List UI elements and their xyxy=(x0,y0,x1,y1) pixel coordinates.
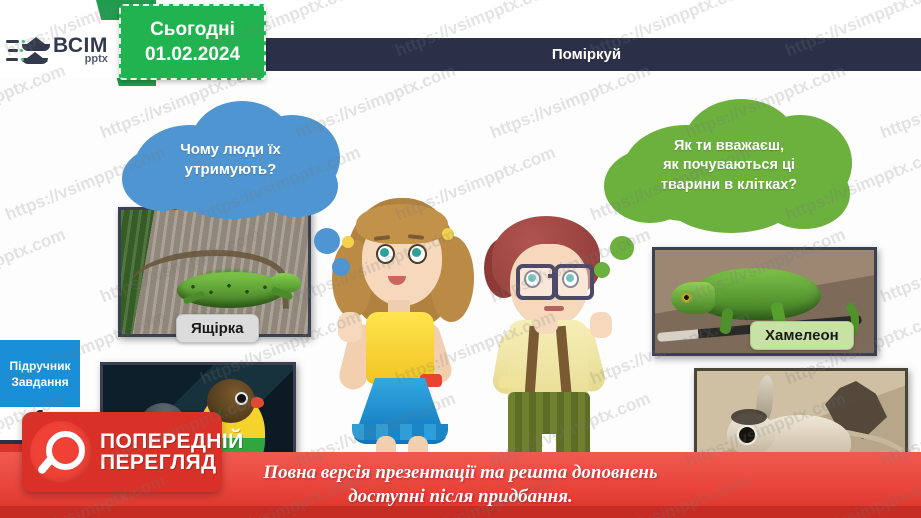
sidebar-textbook-label: Підручник xyxy=(9,359,70,373)
speech-bubble-green: Як ти вважаєш, як почуваються ці тварини… xyxy=(600,97,858,235)
preview-badge-line-2: ПЕРЕГЛЯД xyxy=(100,452,244,473)
bubble-green-tail-small xyxy=(594,262,610,278)
date-badge-value: 01.02.2024 xyxy=(145,44,240,66)
chameleon-eye xyxy=(681,292,692,303)
banner-bottom-strip xyxy=(0,506,921,518)
bubble-green-tail-large xyxy=(610,236,634,260)
banner-line-1: Повна версія презентації та решта доповн… xyxy=(263,462,657,484)
parrot-eye-right xyxy=(235,392,248,405)
boy-hand-on-chin xyxy=(534,312,558,334)
label-lizard: Ящірка xyxy=(176,314,259,343)
girl-pupil-left xyxy=(380,248,389,257)
date-badge: Сьогодні 01.02.2024 xyxy=(119,4,266,80)
girl-pointing-hand xyxy=(338,312,362,342)
boy-hand-right xyxy=(590,312,612,338)
magnifier-icon xyxy=(30,421,92,483)
jerboa-eye xyxy=(737,425,757,445)
jerboa-head-stripe xyxy=(731,409,767,425)
bubble-green-line-3: тварини в клітках? xyxy=(661,176,797,195)
girl-hair-bead-right xyxy=(442,228,454,240)
page-title: Поміркуй xyxy=(552,46,621,63)
bubble-blue-line-1: Чому люди їх xyxy=(180,140,281,160)
bubble-blue-tail-small xyxy=(332,258,350,276)
girl-character xyxy=(332,192,468,472)
bubble-blue-tail-large xyxy=(314,228,340,254)
speech-bubble-blue-text: Чому люди їх утримують? xyxy=(116,99,345,221)
boy-glasses-lens-left xyxy=(516,264,556,300)
slide-title-bar: Поміркуй xyxy=(252,38,921,71)
brand-logo[interactable]: ВСІМ pptx xyxy=(6,30,126,70)
chameleon-head xyxy=(671,282,715,314)
bubble-blue-line-2: утримують? xyxy=(185,160,277,180)
girl-pupil-right xyxy=(412,248,421,257)
girl-hair-bead-left xyxy=(342,236,354,248)
bubble-green-line-1: Як ти вважаєш, xyxy=(674,137,784,156)
boy-glasses-lens-right xyxy=(554,264,594,300)
speech-bubble-blue: Чому люди їх утримують? xyxy=(116,99,345,221)
parrot-beak-right xyxy=(251,397,264,408)
bubble-green-line-2: як почуваються ці xyxy=(663,156,795,175)
girl-skirt-frill xyxy=(352,424,448,440)
banner-line-2: доступні після придбання. xyxy=(348,486,572,508)
boy-glasses-bridge xyxy=(548,274,556,278)
boy-character xyxy=(482,216,614,478)
boy-sleeve-cuff xyxy=(498,376,524,388)
speech-bubble-green-text: Як ти вважаєш, як почуваються ці тварини… xyxy=(600,97,858,235)
preview-badge: ПОПЕРЕДНІЙ ПЕРЕГЛЯД xyxy=(22,412,222,492)
boy-mouth xyxy=(544,306,564,311)
label-chameleon: Хамелеон xyxy=(750,321,854,350)
preview-badge-line-1: ПОПЕРЕДНІЙ xyxy=(100,431,244,452)
sidebar-task-label: Завдання xyxy=(11,375,68,389)
slide-canvas: Чому люди їх утримують? Як ти вважаєш, я… xyxy=(0,0,921,518)
girl-fringe xyxy=(356,204,448,244)
date-badge-label: Сьогодні xyxy=(150,19,235,41)
graduation-cap-icon xyxy=(6,33,50,67)
sidebar-textbook-task[interactable]: Підручник Завдання xyxy=(0,340,80,407)
